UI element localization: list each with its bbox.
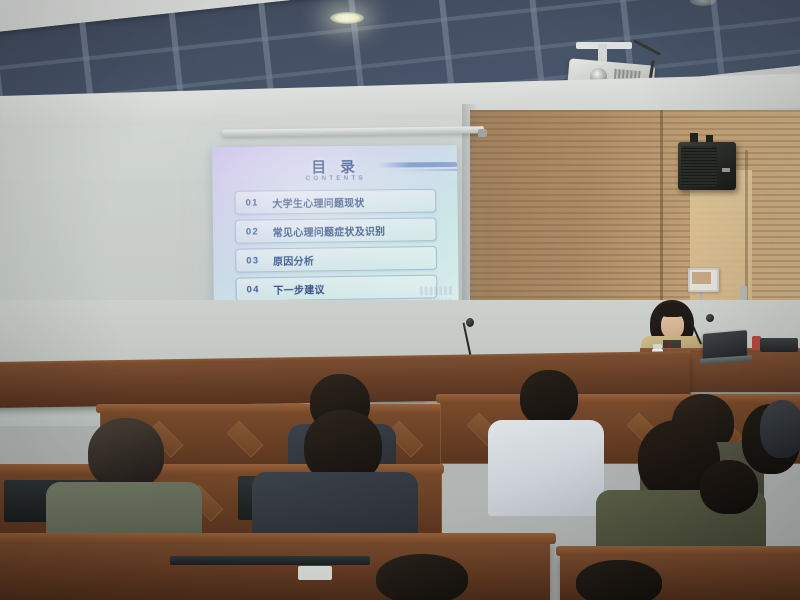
foreground-bench-cap: [0, 533, 556, 544]
podium-equipment: [760, 338, 798, 352]
wall-sign-inner: [692, 272, 711, 284]
water-bottle-cap: [653, 344, 662, 349]
slide-item-text: 下一步建议: [273, 281, 325, 297]
foreground-microphone-base: [170, 556, 370, 565]
audience-member-body: [488, 420, 604, 516]
bench-cap: [96, 404, 444, 413]
slide-item-number: 02: [246, 226, 266, 237]
lecture-hall-photo: 目 录 CONTENTS 01 大学生心理问题现状 02 常见心理问题症状及识别…: [0, 0, 800, 600]
foreground-name-card: [298, 566, 332, 580]
door-handle: [740, 286, 747, 300]
presenter-microphone-head: [706, 314, 714, 322]
speaker-badge: [722, 168, 730, 172]
audience-member-head: [576, 560, 662, 600]
foreground-bench-right-cap: [556, 546, 800, 556]
slide-subtitle: CONTENTS: [212, 174, 457, 183]
bench-cap: [436, 394, 800, 403]
slide-item-text: 常见心理问题症状及识别: [273, 222, 386, 238]
speaker-grille: [681, 146, 717, 186]
slide-item-number: 03: [246, 255, 266, 266]
slide-item-number: 01: [245, 197, 265, 208]
presenter-hair-front: [658, 303, 687, 317]
slide-item-text: 原因分析: [273, 252, 314, 268]
audience-member-head: [520, 370, 578, 426]
foreground-bench: [0, 540, 550, 600]
screen-roller-cap: [478, 129, 487, 137]
audience-member-head: [88, 418, 164, 490]
slide-list-item: 04 下一步建议: [236, 275, 438, 302]
slide-watermark: [420, 286, 453, 295]
ceiling-light: [330, 12, 364, 24]
slide-list-item: 03 原因分析: [235, 246, 437, 273]
audience-member-hair-tie: [700, 460, 758, 514]
slide-item-text: 大学生心理问题现状: [272, 194, 364, 210]
slide-item-number: 04: [247, 284, 267, 295]
wall-sign-icon: [688, 268, 719, 292]
table-microphone-head: [466, 318, 474, 327]
slide-contents-list: 01 大学生心理问题现状 02 常见心理问题症状及识别 03 原因分析 04 下…: [234, 189, 437, 307]
slide-list-item: 02 常见心理问题症状及识别: [235, 217, 437, 243]
projected-slide: 目 录 CONTENTS 01 大学生心理问题现状 02 常见心理问题症状及识别…: [212, 145, 459, 313]
slide-list-item: 01 大学生心理问题现状: [234, 189, 436, 215]
audience-member-head: [760, 400, 800, 458]
audience-member-head: [376, 554, 468, 600]
